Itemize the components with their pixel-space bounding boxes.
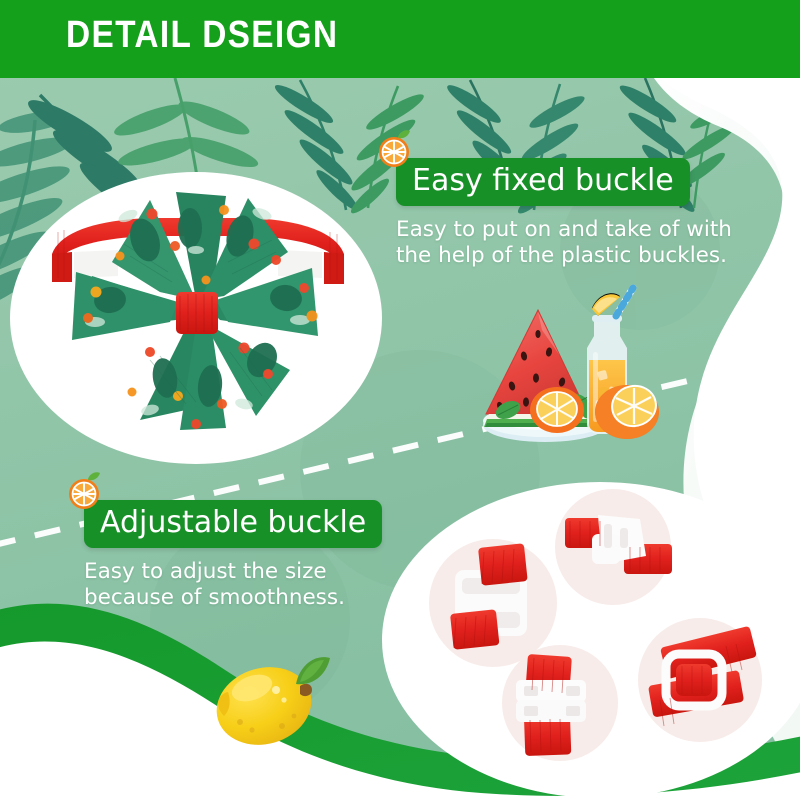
- buckle-photos-oval: [382, 482, 800, 798]
- body-line: Easy to put on and take of with: [396, 217, 732, 243]
- feature-adjustable-buckle: Adjustable buckle Easy to adjust the siz…: [84, 500, 382, 611]
- body-line: Easy to adjust the size: [84, 559, 382, 585]
- page-title: DETAIL DSEIGN: [66, 14, 338, 57]
- body-line: because of smoothness.: [84, 585, 382, 611]
- feature-easy-fixed-buckle: Easy fixed buckle Easy to put on and tak…: [396, 158, 732, 269]
- body-line: the help of the plastic buckles.: [396, 243, 732, 269]
- badge-wrap-easy-fixed-buckle: Easy fixed buckle: [396, 158, 690, 206]
- buckle-closeup-adjuster-ring: [638, 618, 762, 742]
- infographic-canvas: DETAIL DSEIGN Easy fixed buckle Easy to …: [0, 0, 800, 800]
- body-text-adjustable-buckle: Easy to adjust the size because of smoot…: [84, 559, 382, 611]
- buckle-closeup-slider: [429, 539, 557, 667]
- buckle-closeup-open-clip: [502, 645, 618, 761]
- background-art: [0, 0, 800, 800]
- badge-label-adjustable-buckle: Adjustable buckle: [84, 500, 382, 548]
- orange-slice-icon: [64, 470, 108, 514]
- badge-label-easy-fixed-buckle: Easy fixed buckle: [396, 158, 690, 206]
- badge-wrap-adjustable-buckle: Adjustable buckle: [84, 500, 382, 548]
- product-photo-oval: [10, 172, 382, 464]
- orange-slice-icon: [374, 128, 418, 172]
- body-text-easy-fixed-buckle: Easy to put on and take of with the help…: [396, 217, 732, 269]
